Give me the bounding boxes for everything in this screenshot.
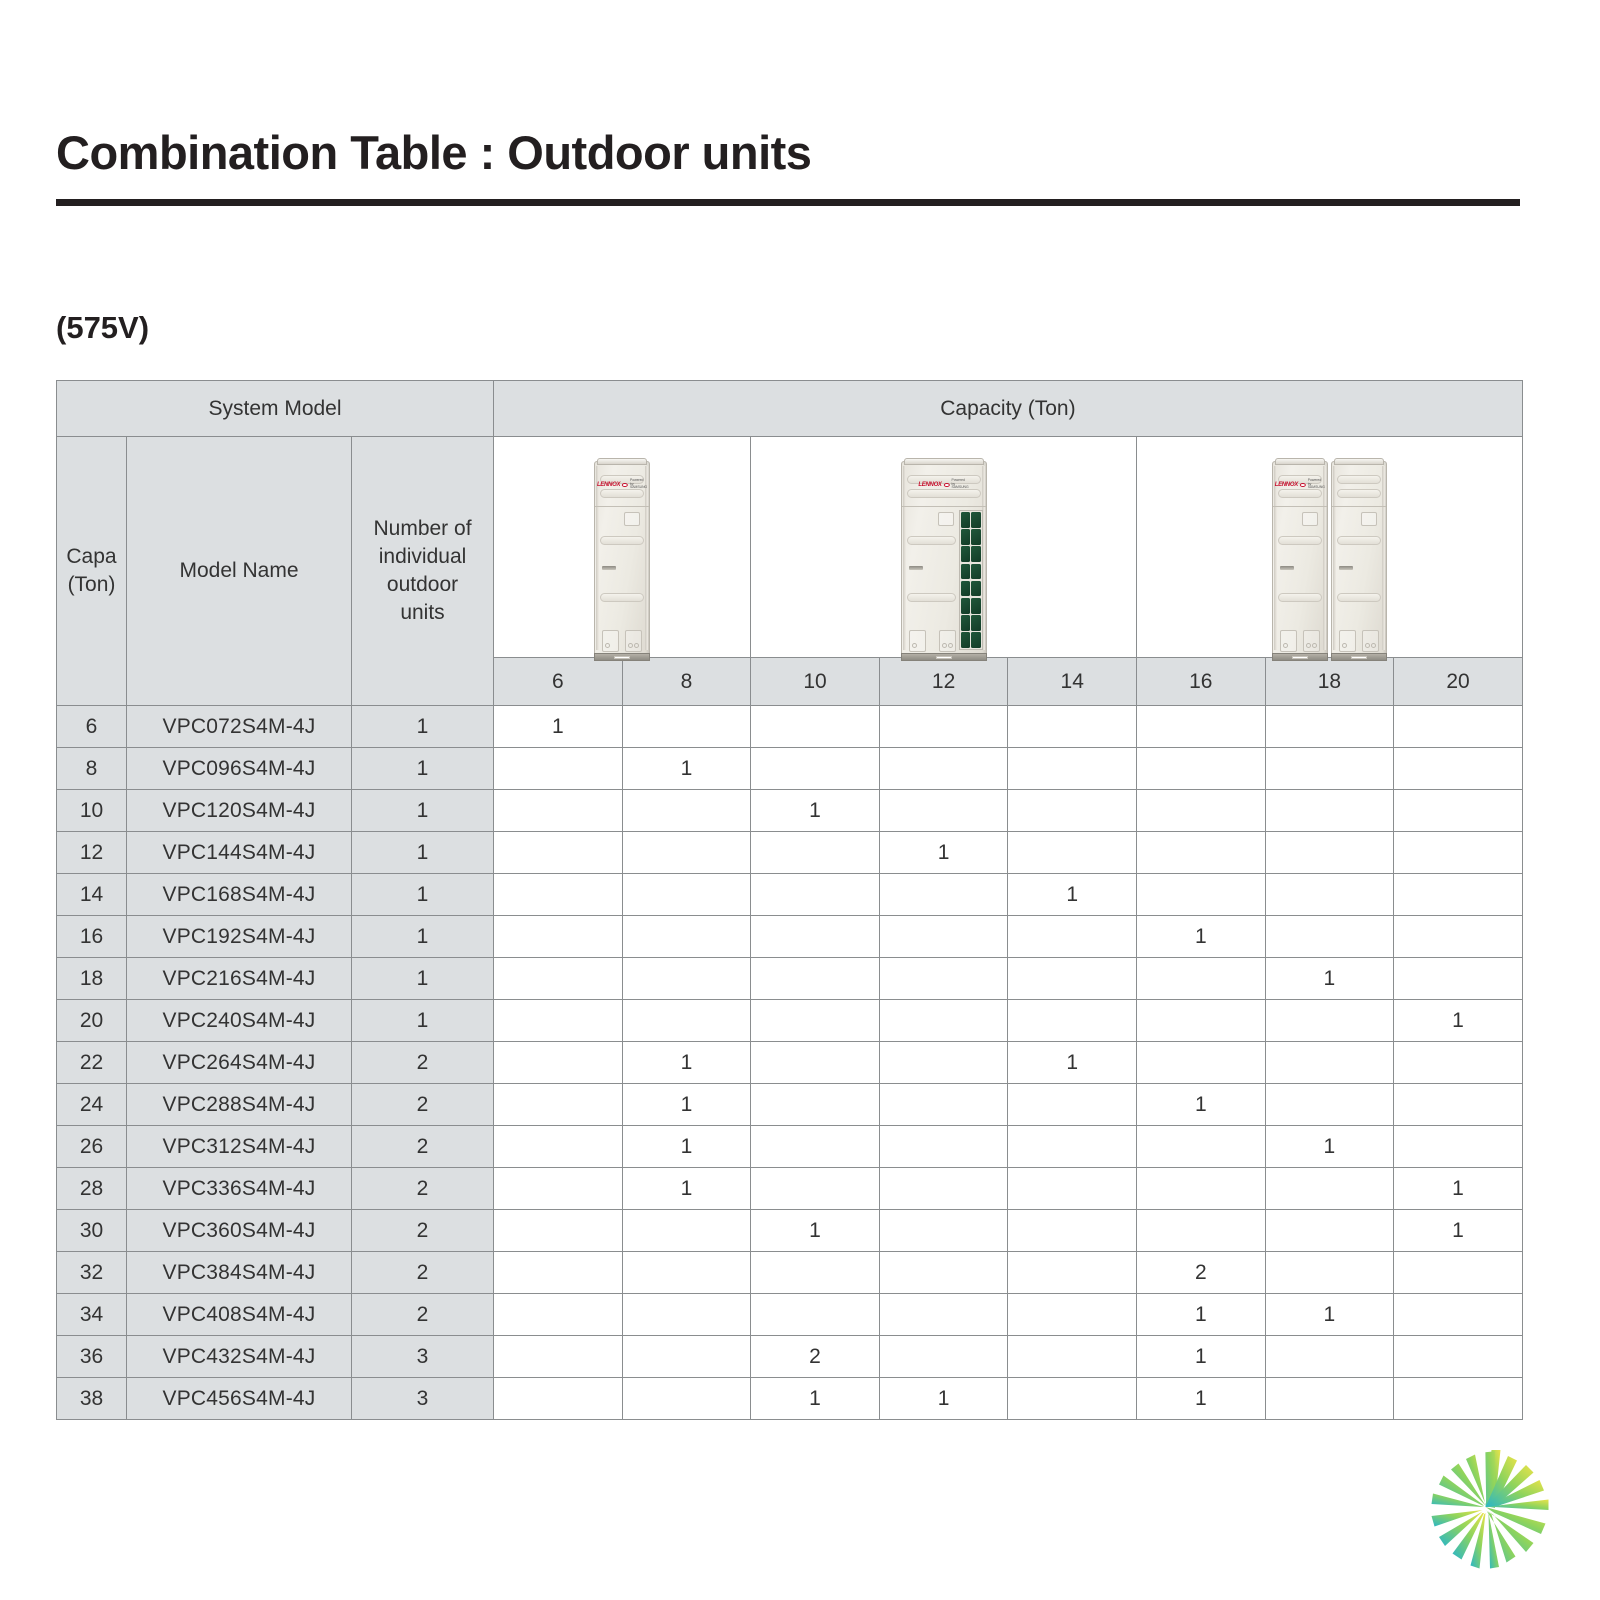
table-row: 8VPC096S4M-4J11 [57, 748, 1523, 790]
combination-table-wrapper: System Model Capacity (Ton) Capa (Ton) M… [56, 380, 1522, 1420]
table-row: 12VPC144S4M-4J11 [57, 832, 1523, 874]
capacity-cell-6 [494, 1126, 623, 1168]
capacity-cell-18 [1265, 916, 1394, 958]
capacity-cell-20: 1 [1394, 1210, 1523, 1252]
capacity-cell-18 [1265, 1168, 1394, 1210]
capacity-cell-14 [1008, 706, 1137, 748]
capacity-col-12: 12 [879, 658, 1008, 706]
row-model-name: VPC408S4M-4J [127, 1294, 352, 1336]
table-row: 24VPC288S4M-4J211 [57, 1084, 1523, 1126]
capacity-cell-12 [879, 874, 1008, 916]
capacity-cell-12 [879, 790, 1008, 832]
row-model-name: VPC168S4M-4J [127, 874, 352, 916]
capacity-cell-8: 1 [622, 1168, 751, 1210]
row-capa: 20 [57, 1000, 127, 1042]
voltage-subtitle: (575V) [56, 310, 149, 346]
table-row: 18VPC216S4M-4J11 [57, 958, 1523, 1000]
capacity-cell-10 [751, 1000, 880, 1042]
capacity-cell-8 [622, 1210, 751, 1252]
capacity-cell-18: 1 [1265, 1294, 1394, 1336]
outdoor-unit-illustration [1331, 461, 1387, 657]
row-model-name: VPC312S4M-4J [127, 1126, 352, 1168]
row-unit-count: 2 [352, 1168, 494, 1210]
capacity-cell-12: 1 [879, 832, 1008, 874]
capacity-cell-20 [1394, 790, 1523, 832]
table-row: 22VPC264S4M-4J211 [57, 1042, 1523, 1084]
capacity-cell-14 [1008, 1168, 1137, 1210]
capacity-cell-14 [1008, 832, 1137, 874]
lennox-logo-icon: LENNOX Powered bySAMSUNG [918, 479, 968, 490]
capacity-cell-14 [1008, 958, 1137, 1000]
starburst-logo [1410, 1432, 1570, 1582]
table-row: 6VPC072S4M-4J11 [57, 706, 1523, 748]
row-unit-count: 1 [352, 874, 494, 916]
capacity-cell-12 [879, 1336, 1008, 1378]
row-capa: 22 [57, 1042, 127, 1084]
capacity-cell-20: 1 [1394, 1168, 1523, 1210]
capacity-cell-10: 1 [751, 1378, 880, 1420]
capacity-cell-20 [1394, 1084, 1523, 1126]
capacity-cell-12 [879, 916, 1008, 958]
header-number-of-units: Number of individual outdoor units [352, 437, 494, 706]
row-capa: 14 [57, 874, 127, 916]
page-title: Combination Table : Outdoor units [56, 128, 1520, 177]
row-model-name: VPC096S4M-4J [127, 748, 352, 790]
table-row: 10VPC120S4M-4J11 [57, 790, 1523, 832]
row-capa: 38 [57, 1378, 127, 1420]
capacity-cell-6 [494, 1294, 623, 1336]
capacity-cell-12: 1 [879, 1378, 1008, 1420]
capacity-cell-6 [494, 790, 623, 832]
heat-exchanger-panel [959, 510, 983, 650]
capacity-cell-12 [879, 1000, 1008, 1042]
capacity-cell-6 [494, 1042, 623, 1084]
table-row: 20VPC240S4M-4J11 [57, 1000, 1523, 1042]
table-row: 26VPC312S4M-4J211 [57, 1126, 1523, 1168]
table-row: 28VPC336S4M-4J211 [57, 1168, 1523, 1210]
capacity-cell-10 [751, 1042, 880, 1084]
capacity-cell-20 [1394, 706, 1523, 748]
capacity-cell-18 [1265, 1042, 1394, 1084]
capacity-cell-8 [622, 958, 751, 1000]
row-unit-count: 2 [352, 1084, 494, 1126]
row-unit-count: 1 [352, 916, 494, 958]
capacity-cell-8 [622, 790, 751, 832]
row-capa: 28 [57, 1168, 127, 1210]
capacity-cell-10 [751, 958, 880, 1000]
capacity-cell-20 [1394, 916, 1523, 958]
header-units-line4: units [352, 599, 493, 627]
capacity-cell-10 [751, 1294, 880, 1336]
capacity-cell-6 [494, 1000, 623, 1042]
row-model-name: VPC216S4M-4J [127, 958, 352, 1000]
outdoor-unit-illustration: LENNOX Powered bySAMSUNG [901, 461, 987, 657]
capacity-cell-20 [1394, 1294, 1523, 1336]
row-model-name: VPC432S4M-4J [127, 1336, 352, 1378]
capacity-cell-8 [622, 706, 751, 748]
title-block: Combination Table : Outdoor units [56, 128, 1520, 206]
row-model-name: VPC288S4M-4J [127, 1084, 352, 1126]
capacity-cell-14 [1008, 748, 1137, 790]
capacity-cell-14 [1008, 1126, 1137, 1168]
capacity-cell-16: 1 [1137, 1378, 1266, 1420]
table-body: 6VPC072S4M-4J118VPC096S4M-4J1110VPC120S4… [57, 706, 1523, 1420]
capacity-cell-10 [751, 1084, 880, 1126]
capacity-cell-18: 1 [1265, 1126, 1394, 1168]
capacity-cell-14 [1008, 1252, 1137, 1294]
product-image-single-large: LENNOX Powered bySAMSUNG [751, 437, 1137, 658]
outdoor-unit-illustration: LENNOX Powered bySAMSUNG [1272, 461, 1328, 657]
capacity-cell-8 [622, 1000, 751, 1042]
capacity-cell-6 [494, 748, 623, 790]
capacity-cell-14 [1008, 916, 1137, 958]
subheader-row: Capa (Ton) Model Name Number of individu… [57, 437, 1523, 658]
row-capa: 34 [57, 1294, 127, 1336]
capacity-col-16: 16 [1137, 658, 1266, 706]
capacity-cell-20 [1394, 1378, 1523, 1420]
capacity-cell-6 [494, 958, 623, 1000]
row-unit-count: 3 [352, 1336, 494, 1378]
row-unit-count: 1 [352, 1000, 494, 1042]
capacity-cell-20 [1394, 958, 1523, 1000]
capacity-cell-10 [751, 916, 880, 958]
capacity-cell-16: 1 [1137, 916, 1266, 958]
capacity-col-8: 8 [622, 658, 751, 706]
capacity-cell-14: 1 [1008, 874, 1137, 916]
header-capa-line1: Capa [57, 543, 126, 571]
header-system-model: System Model [57, 381, 494, 437]
row-model-name: VPC144S4M-4J [127, 832, 352, 874]
capacity-cell-18 [1265, 1378, 1394, 1420]
capacity-cell-18 [1265, 790, 1394, 832]
capacity-cell-8 [622, 874, 751, 916]
capacity-cell-20 [1394, 832, 1523, 874]
capacity-cell-16 [1137, 1000, 1266, 1042]
capacity-cell-14 [1008, 1000, 1137, 1042]
row-unit-count: 3 [352, 1378, 494, 1420]
table-row: 36VPC432S4M-4J321 [57, 1336, 1523, 1378]
capacity-cell-20: 1 [1394, 1000, 1523, 1042]
capacity-cell-16 [1137, 1168, 1266, 1210]
row-unit-count: 2 [352, 1294, 494, 1336]
capacity-cell-16 [1137, 958, 1266, 1000]
header-units-line3: outdoor [352, 571, 493, 599]
capacity-cell-12 [879, 1210, 1008, 1252]
capacity-cell-16: 2 [1137, 1252, 1266, 1294]
capacity-cell-20 [1394, 1252, 1523, 1294]
capacity-cell-16 [1137, 1126, 1266, 1168]
table-row: 34VPC408S4M-4J211 [57, 1294, 1523, 1336]
header-capa-ton: Capa (Ton) [57, 437, 127, 706]
capacity-cell-10 [751, 874, 880, 916]
capacity-cell-18 [1265, 832, 1394, 874]
capacity-col-10: 10 [751, 658, 880, 706]
capacity-cell-12 [879, 1252, 1008, 1294]
row-model-name: VPC072S4M-4J [127, 706, 352, 748]
capacity-cell-16: 1 [1137, 1336, 1266, 1378]
capacity-cell-18 [1265, 748, 1394, 790]
capacity-cell-8 [622, 1294, 751, 1336]
row-model-name: VPC240S4M-4J [127, 1000, 352, 1042]
table-row: 16VPC192S4M-4J11 [57, 916, 1523, 958]
row-model-name: VPC264S4M-4J [127, 1042, 352, 1084]
row-capa: 8 [57, 748, 127, 790]
capacity-cell-6 [494, 1084, 623, 1126]
row-capa: 26 [57, 1126, 127, 1168]
capacity-cell-16 [1137, 832, 1266, 874]
table-row: 30VPC360S4M-4J211 [57, 1210, 1523, 1252]
capacity-cell-20 [1394, 1126, 1523, 1168]
row-capa: 30 [57, 1210, 127, 1252]
capacity-cell-12 [879, 1084, 1008, 1126]
capacity-cell-10 [751, 706, 880, 748]
capacity-cell-10: 2 [751, 1336, 880, 1378]
capacity-cell-8 [622, 1336, 751, 1378]
lennox-logo-icon: LENNOX Powered bySAMSUNG [1275, 479, 1325, 490]
capacity-cell-6 [494, 1378, 623, 1420]
capacity-cell-14: 1 [1008, 1042, 1137, 1084]
capacity-cell-18 [1265, 1000, 1394, 1042]
row-unit-count: 1 [352, 706, 494, 748]
capacity-cell-16 [1137, 874, 1266, 916]
group-header-row: System Model Capacity (Ton) [57, 381, 1523, 437]
row-capa: 16 [57, 916, 127, 958]
capacity-cell-8: 1 [622, 1042, 751, 1084]
row-model-name: VPC384S4M-4J [127, 1252, 352, 1294]
lennox-logo-icon: LENNOX Powered bySAMSUNG [597, 479, 647, 490]
capacity-cell-14 [1008, 1378, 1137, 1420]
capacity-cell-12 [879, 748, 1008, 790]
capacity-cell-16 [1137, 748, 1266, 790]
capacity-cell-18 [1265, 874, 1394, 916]
capacity-cell-8 [622, 916, 751, 958]
row-unit-count: 1 [352, 748, 494, 790]
capacity-col-6: 6 [494, 658, 623, 706]
capacity-cell-10 [751, 1252, 880, 1294]
capacity-cell-14 [1008, 1210, 1137, 1252]
row-unit-count: 1 [352, 790, 494, 832]
row-capa: 36 [57, 1336, 127, 1378]
row-capa: 12 [57, 832, 127, 874]
row-model-name: VPC120S4M-4J [127, 790, 352, 832]
capacity-cell-6: 1 [494, 706, 623, 748]
capacity-cell-10 [751, 832, 880, 874]
capacity-cell-6 [494, 1252, 623, 1294]
row-capa: 18 [57, 958, 127, 1000]
capacity-cell-16 [1137, 1210, 1266, 1252]
table-row: 38VPC456S4M-4J3111 [57, 1378, 1523, 1420]
capacity-cell-16: 1 [1137, 1294, 1266, 1336]
row-capa: 6 [57, 706, 127, 748]
combination-table: System Model Capacity (Ton) Capa (Ton) M… [56, 380, 1523, 1420]
product-image-dual: LENNOX Powered bySAMSUNG [1137, 437, 1523, 658]
table-row: 32VPC384S4M-4J22 [57, 1252, 1523, 1294]
header-model-name: Model Name [127, 437, 352, 706]
row-capa: 32 [57, 1252, 127, 1294]
row-unit-count: 2 [352, 1210, 494, 1252]
capacity-col-18: 18 [1265, 658, 1394, 706]
row-unit-count: 1 [352, 958, 494, 1000]
outdoor-unit-illustration: LENNOX Powered bySAMSUNG [594, 461, 650, 657]
capacity-cell-10: 1 [751, 1210, 880, 1252]
capacity-cell-12 [879, 1126, 1008, 1168]
capacity-cell-8 [622, 832, 751, 874]
header-capacity: Capacity (Ton) [494, 381, 1523, 437]
capacity-cell-16 [1137, 790, 1266, 832]
table-head: System Model Capacity (Ton) Capa (Ton) M… [57, 381, 1523, 706]
capacity-col-20: 20 [1394, 658, 1523, 706]
capacity-cell-14 [1008, 1084, 1137, 1126]
capacity-cell-20 [1394, 1336, 1523, 1378]
capacity-cell-18: 1 [1265, 958, 1394, 1000]
capacity-cell-14 [1008, 790, 1137, 832]
capacity-cell-6 [494, 1210, 623, 1252]
row-model-name: VPC192S4M-4J [127, 916, 352, 958]
capacity-cell-8 [622, 1252, 751, 1294]
capacity-cell-18 [1265, 1084, 1394, 1126]
capacity-cell-8 [622, 1378, 751, 1420]
table-row: 14VPC168S4M-4J11 [57, 874, 1523, 916]
row-unit-count: 2 [352, 1252, 494, 1294]
capacity-cell-18 [1265, 1210, 1394, 1252]
capacity-cell-10 [751, 1168, 880, 1210]
capacity-cell-16 [1137, 706, 1266, 748]
capacity-cell-16 [1137, 1042, 1266, 1084]
header-units-line2: individual [352, 543, 493, 571]
capacity-cell-8: 1 [622, 748, 751, 790]
capacity-cell-18 [1265, 1252, 1394, 1294]
header-units-line1: Number of [352, 515, 493, 543]
capacity-cell-8: 1 [622, 1126, 751, 1168]
capacity-col-14: 14 [1008, 658, 1137, 706]
row-model-name: VPC456S4M-4J [127, 1378, 352, 1420]
capacity-cell-6 [494, 916, 623, 958]
row-unit-count: 2 [352, 1042, 494, 1084]
capacity-cell-6 [494, 1168, 623, 1210]
page-root: Combination Table : Outdoor units (575V)… [0, 0, 1600, 1600]
capacity-cell-20 [1394, 874, 1523, 916]
capacity-cell-14 [1008, 1294, 1137, 1336]
capacity-cell-6 [494, 1336, 623, 1378]
capacity-cell-10: 1 [751, 790, 880, 832]
capacity-cell-12 [879, 1168, 1008, 1210]
capacity-cell-14 [1008, 1336, 1137, 1378]
capacity-cell-6 [494, 832, 623, 874]
capacity-cell-10 [751, 748, 880, 790]
capacity-cell-12 [879, 958, 1008, 1000]
capacity-cell-20 [1394, 1042, 1523, 1084]
header-capa-line2: (Ton) [57, 571, 126, 599]
capacity-cell-18 [1265, 706, 1394, 748]
capacity-cell-6 [494, 874, 623, 916]
title-underline [56, 199, 1520, 206]
capacity-cell-18 [1265, 1336, 1394, 1378]
row-capa: 24 [57, 1084, 127, 1126]
capacity-cell-12 [879, 1294, 1008, 1336]
capacity-cell-20 [1394, 748, 1523, 790]
capacity-cell-16: 1 [1137, 1084, 1266, 1126]
capacity-cell-12 [879, 706, 1008, 748]
capacity-cell-8: 1 [622, 1084, 751, 1126]
row-model-name: VPC360S4M-4J [127, 1210, 352, 1252]
row-capa: 10 [57, 790, 127, 832]
row-model-name: VPC336S4M-4J [127, 1168, 352, 1210]
product-image-single-small: LENNOX Powered bySAMSUNG [494, 437, 751, 658]
row-unit-count: 2 [352, 1126, 494, 1168]
row-unit-count: 1 [352, 832, 494, 874]
capacity-cell-10 [751, 1126, 880, 1168]
capacity-cell-12 [879, 1042, 1008, 1084]
